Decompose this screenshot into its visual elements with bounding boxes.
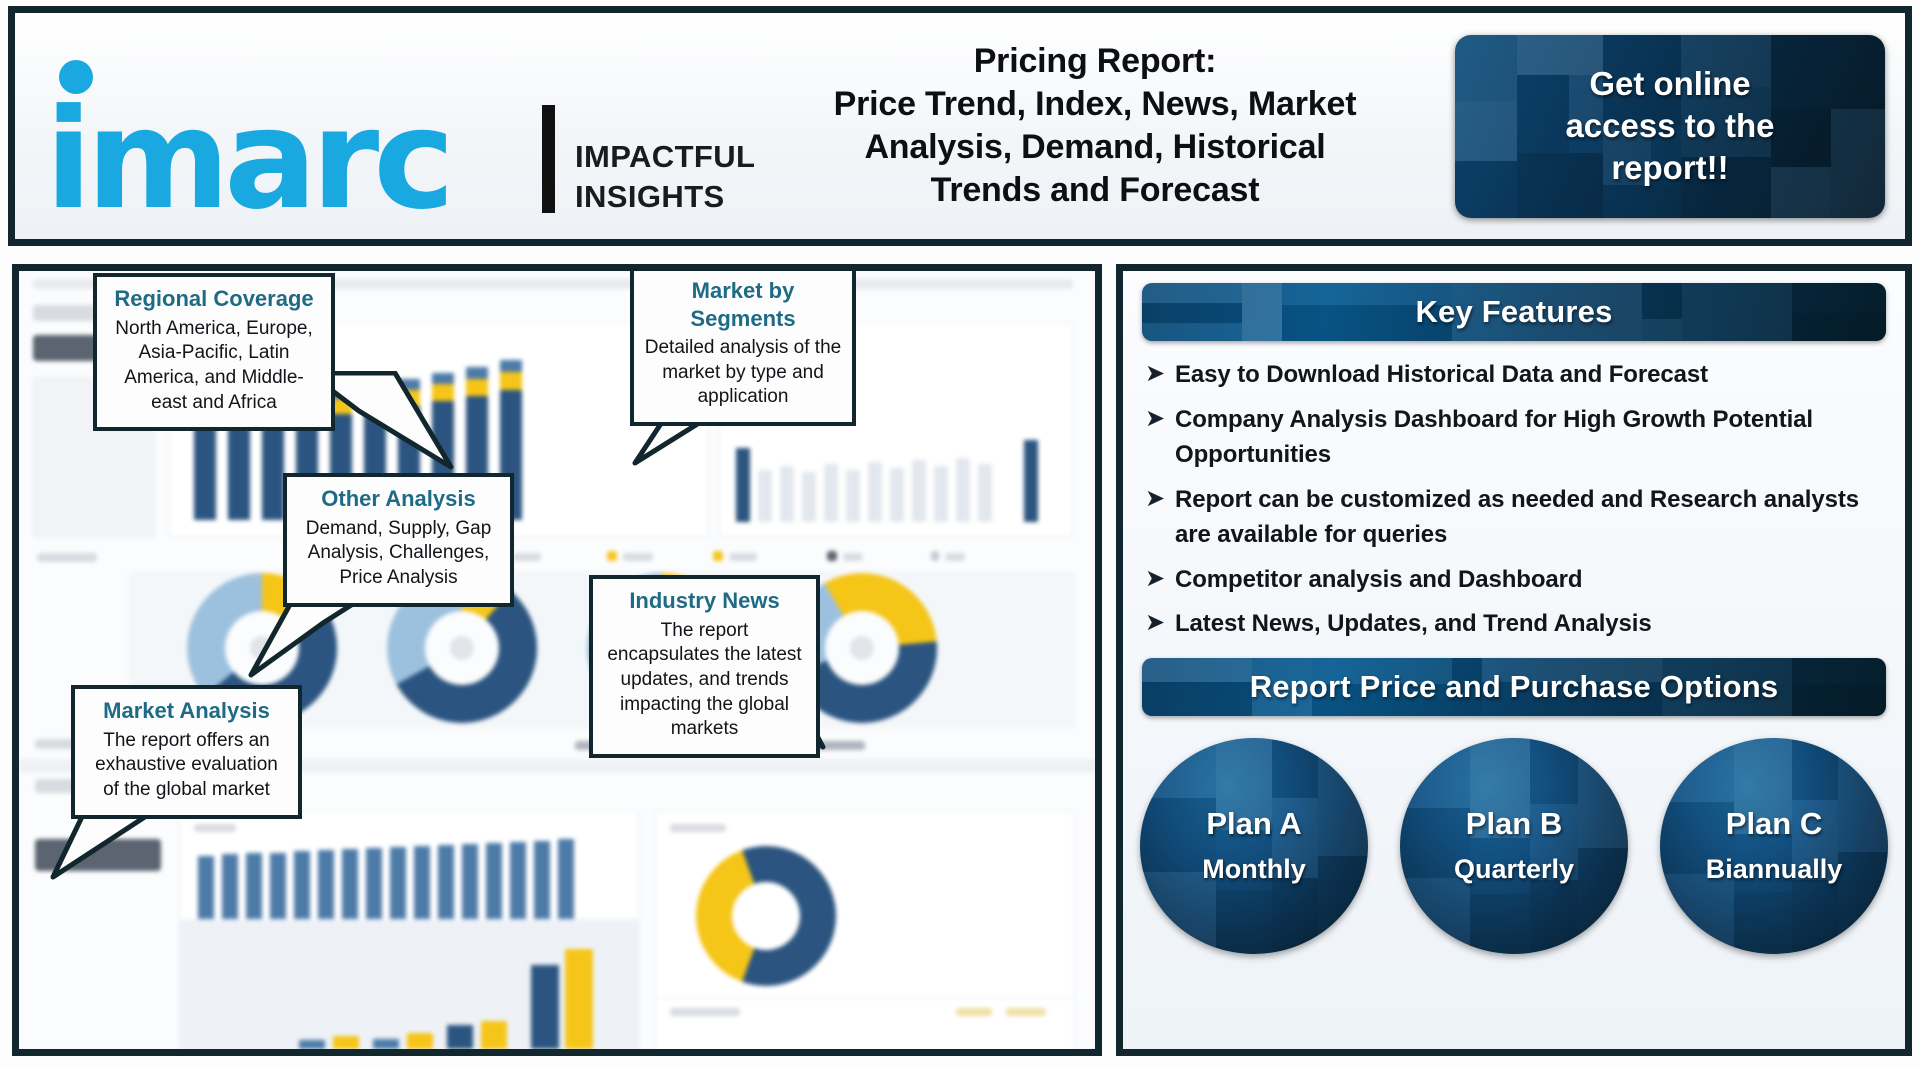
plan-a-cycle: Monthly: [1202, 854, 1305, 885]
legend-text-5: [843, 553, 863, 561]
plan-option-b[interactable]: Plan B Quarterly: [1400, 738, 1628, 954]
plan-option-c[interactable]: Plan C Biannually: [1660, 738, 1888, 954]
header-frame: imarc IMPACTFUL INSIGHTS Pricing Report:…: [8, 6, 1912, 246]
legend-text-6: [945, 553, 965, 561]
purchase-options-banner: Report Price and Purchase Options: [1142, 658, 1886, 716]
logo-tagline-line2: INSIGHTS: [575, 177, 755, 217]
callout-market-by-segments: Market by Segments Detailed analysis of …: [630, 265, 856, 426]
dashboard-bottom-right-card: [655, 811, 1075, 1001]
dashboard-preview-panel: Regional Coverage North America, Europe,…: [12, 264, 1102, 1056]
chevron-right-icon: ➤: [1145, 482, 1175, 514]
callout-body-industry-news: The report encapsulates the latest updat…: [603, 619, 806, 742]
page-title-line-1: Pricing Report:: [775, 40, 1415, 83]
legend-text-2: [513, 553, 541, 561]
key-feature-item: ➤ Company Analysis Dashboard for High Gr…: [1145, 402, 1897, 473]
callout-title-industry-news: Industry News: [603, 587, 806, 615]
brand-logo: imarc IMPACTFUL INSIGHTS: [15, 13, 775, 239]
page-title-line-4: Trends and Forecast: [775, 169, 1415, 212]
legend-swatch-3: [607, 551, 617, 561]
page-title: Pricing Report: Price Trend, Index, News…: [775, 40, 1435, 211]
callout-title-regional-coverage: Regional Coverage: [107, 285, 321, 313]
mosaic-texture-icon: [1660, 738, 1888, 954]
logo-wordmark: imarc: [45, 91, 449, 229]
key-feature-label: Easy to Download Historical Data and For…: [1175, 357, 1708, 393]
dashboard-bottom-left-lower-card: [179, 919, 639, 1056]
legend-text-4: [729, 553, 757, 561]
legend-swatch-6: [931, 551, 939, 561]
plan-c-name: Plan C: [1726, 806, 1822, 842]
plan-a-name: Plan A: [1206, 806, 1301, 842]
key-feature-label: Competitor analysis and Dashboard: [1175, 562, 1582, 598]
logo-tagline-line1: IMPACTFUL: [575, 137, 755, 177]
get-online-access-button[interactable]: Get online access to the report!!: [1455, 35, 1885, 218]
dashboard-legend-label: [37, 553, 97, 562]
mosaic-texture-icon: [1140, 738, 1368, 954]
cta-zone: Get online access to the report!!: [1435, 13, 1905, 239]
callout-industry-news: Industry News The report encapsulates th…: [589, 575, 820, 758]
plan-option-a[interactable]: Plan A Monthly: [1140, 738, 1368, 954]
callout-body-market-analysis: The report offers an exhaustive evaluati…: [85, 729, 288, 803]
legend-swatch-5: [827, 551, 837, 561]
key-feature-item: ➤ Easy to Download Historical Data and F…: [1145, 357, 1897, 393]
page-title-line-2: Price Trend, Index, News, Market: [775, 83, 1415, 126]
dashboard-bottom-right-lower-card: [655, 997, 1075, 1056]
dashboard-bottom-left-mini-bars: [299, 929, 629, 1049]
callout-title-market-by-segments: Market by Segments: [644, 277, 842, 332]
chevron-right-icon: ➤: [1145, 562, 1175, 594]
cta-line-1: Get online: [1565, 63, 1774, 105]
chevron-right-icon: ➤: [1145, 357, 1175, 389]
plan-c-cycle: Biannually: [1706, 854, 1843, 885]
key-feature-label: Latest News, Updates, and Trend Analysis: [1175, 606, 1652, 642]
key-feature-item: ➤ Latest News, Updates, and Trend Analys…: [1145, 606, 1897, 642]
key-features-banner: Key Features: [1142, 283, 1886, 341]
callout-body-market-by-segments: Detailed analysis of the market by type …: [644, 336, 842, 410]
logo-divider: [542, 105, 555, 213]
callout-body-other-analysis: Demand, Supply, Gap Analysis, Challenges…: [297, 517, 500, 591]
callout-title-other-analysis: Other Analysis: [297, 485, 500, 513]
purchase-options-title: Report Price and Purchase Options: [1250, 669, 1779, 705]
cta-line-3: report!!: [1565, 147, 1774, 189]
plans-row: Plan A Monthly Plan B: [1140, 738, 1888, 954]
plan-b-cycle: Quarterly: [1454, 854, 1574, 885]
legend-swatch-4: [713, 551, 723, 561]
callout-other-analysis: Other Analysis Demand, Supply, Gap Analy…: [283, 473, 514, 607]
chevron-right-icon: ➤: [1145, 606, 1175, 638]
key-features-list: ➤ Easy to Download Historical Data and F…: [1145, 357, 1897, 642]
plan-b-name: Plan B: [1466, 806, 1562, 842]
key-features-title: Key Features: [1415, 294, 1612, 330]
infographic-page: imarc IMPACTFUL INSIGHTS Pricing Report:…: [0, 0, 1920, 1070]
key-feature-label: Company Analysis Dashboard for High Grow…: [1175, 402, 1897, 473]
mosaic-texture-icon: [1400, 738, 1628, 954]
header-inner: imarc IMPACTFUL INSIGHTS Pricing Report:…: [15, 13, 1905, 239]
callout-title-market-analysis: Market Analysis: [85, 697, 288, 725]
callout-body-regional-coverage: North America, Europe, Asia-Pacific, Lat…: [107, 317, 321, 416]
cta-label: Get online access to the report!!: [1565, 63, 1774, 190]
callout-market-analysis: Market Analysis The report offers an exh…: [71, 685, 302, 819]
key-feature-item: ➤ Report can be customized as needed and…: [1145, 482, 1897, 553]
legend-text-3: [623, 553, 653, 561]
donut-chart-5: [696, 846, 836, 986]
page-title-line-3: Analysis, Demand, Historical: [775, 126, 1415, 169]
chevron-right-icon: ➤: [1145, 402, 1175, 434]
key-feature-label: Report can be customized as needed and R…: [1175, 482, 1897, 553]
logo-tagline: IMPACTFUL INSIGHTS: [575, 137, 755, 216]
callout-regional-coverage: Regional Coverage North America, Europe,…: [93, 273, 335, 431]
cta-line-2: access to the: [1565, 105, 1774, 147]
offer-panel: Key Features ➤ Easy to Download Historic…: [1116, 264, 1912, 1056]
key-feature-item: ➤ Competitor analysis and Dashboard: [1145, 562, 1897, 598]
